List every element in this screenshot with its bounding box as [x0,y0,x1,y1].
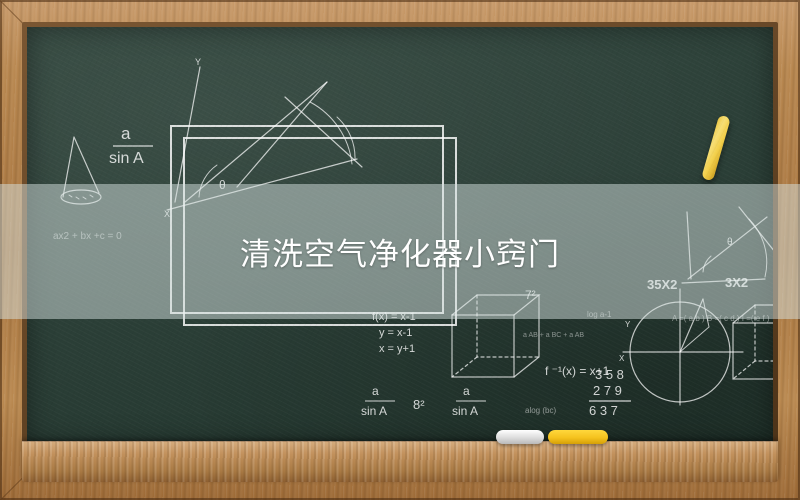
chalk-text-8squared: 8² [413,397,425,412]
white-chalk-piece [496,430,544,444]
chalk-text-log2: alog (bc) [525,406,556,415]
page-title: 清洗空气净化器小窍门 [0,184,800,319]
chalkboard-image: a sin A Y X θ ax2 + bx +c = 0 f(x) = x-1… [0,0,800,500]
chalk-text-fraction-den: sin A [109,150,144,167]
chalk-sum-row2: 2 7 9 [593,383,622,398]
chalk-sum-row1: 3 5 8 [595,367,624,382]
chalk-axis-x-right: X [619,354,625,363]
chalk-axis-y-topleft: Y [195,57,201,67]
chalk-tray [22,441,778,482]
chalk-text-expr: a AB + a BC + a AB [523,332,584,339]
yellow-chalk-piece [548,430,608,444]
chalk-frac3-den: sin A [452,404,478,418]
chalk-text-fraction-num: a [121,124,131,143]
chalk-frac2-den: sin A [361,404,387,418]
chalk-text-x: x = y+1 [379,343,415,355]
chalk-frac3-num: a [463,384,470,398]
chalk-text-inverse: f ⁻¹(x) = x+1 [545,364,610,378]
chalk-frac2-num: a [372,384,379,398]
chalk-text-y: y = x-1 [379,327,412,339]
yellow-chalk-stick [701,115,731,182]
chalk-sum-result: 6 3 7 [589,403,618,418]
chalk-axis-y-right: Y [625,320,631,329]
